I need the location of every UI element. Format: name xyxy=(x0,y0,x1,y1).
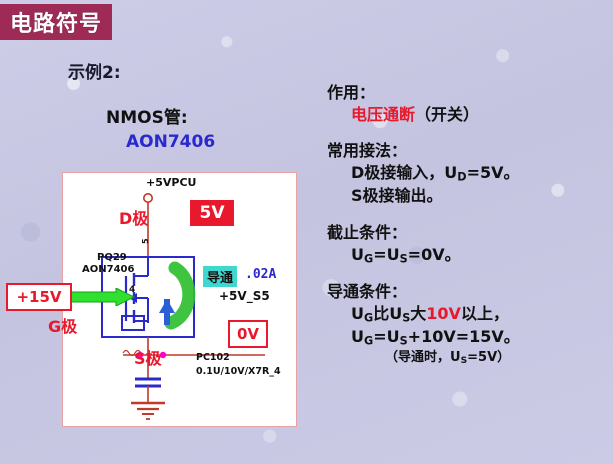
inline-text: 极接输出。 xyxy=(363,186,443,205)
inline-text: +10V=15V。 xyxy=(408,327,520,346)
device-label: AON7406 xyxy=(82,264,134,275)
inline-text: U xyxy=(450,350,461,365)
explanation-heading: 常用接法： xyxy=(327,140,609,162)
explanation-line: UG=US+10V=15V。 xyxy=(327,326,609,349)
inline-text: （开关） xyxy=(415,105,479,124)
inline-text: U xyxy=(387,245,400,264)
current-flow-arc xyxy=(171,268,189,323)
refdes-label: PQ29 xyxy=(97,252,127,263)
inline-text: （导通时， xyxy=(385,350,450,365)
inline-text: 以上， xyxy=(461,304,509,323)
explanation-line: UG比US大10V以上， xyxy=(327,303,609,326)
pin-number-gate: 4 xyxy=(129,285,135,295)
part-number-label: AON7406 xyxy=(126,132,215,152)
subscript-text: G xyxy=(364,334,373,347)
inline-text: U xyxy=(444,163,457,182)
inline-text: 电压通断 xyxy=(351,105,415,124)
explanation-heading: 截止条件： xyxy=(327,222,609,244)
explanation-line: UG=US=0V。 xyxy=(327,244,609,267)
inline-text: 大 xyxy=(410,304,426,323)
subscript-text: D xyxy=(457,170,466,183)
inline-text: U xyxy=(389,304,402,323)
gate-input-badge: +15V xyxy=(6,283,72,311)
cap-value-label: 0.1U/10V/X7R_4 xyxy=(196,366,281,377)
inline-text: 极接输入， xyxy=(364,163,444,182)
current-value-label: .02A xyxy=(245,267,276,282)
subscript-text: G xyxy=(364,311,373,324)
pin-number-top: 5 xyxy=(141,238,150,244)
example-label: 示例2: xyxy=(68,58,121,83)
input-arrow-icon xyxy=(68,288,136,306)
device-type-label: NMOS管: xyxy=(106,103,188,128)
explanation-line: D极接输入，UD=5V。 xyxy=(327,162,609,185)
title-text: 电路符号 xyxy=(10,6,102,38)
inline-text: 比 xyxy=(373,304,389,323)
explanation-block: 常用接法：D极接输入，UD=5V。S极接输出。 xyxy=(327,140,609,208)
inline-text: =5V。 xyxy=(467,163,520,182)
inline-text: U xyxy=(351,304,364,323)
explanation-line: 电压通断（开关） xyxy=(327,104,609,127)
explanation-line: S极接输出。 xyxy=(327,185,609,208)
source-pole-label: S极 xyxy=(134,345,162,369)
gate-pole-label: G极 xyxy=(48,313,77,337)
inline-text: U xyxy=(351,245,364,264)
drain-pole-label: D极 xyxy=(119,205,148,229)
inline-text: = xyxy=(373,245,386,264)
inline-text: 10V xyxy=(426,304,461,323)
subscript-text: S xyxy=(400,252,408,265)
inline-text: = xyxy=(373,327,386,346)
subscript-text: G xyxy=(364,252,373,265)
inline-text: U xyxy=(387,327,400,346)
explanation-heading: 作用： xyxy=(327,82,609,104)
subscript-text: S xyxy=(400,334,408,347)
inline-text: D xyxy=(351,163,364,182)
inline-text: =5V） xyxy=(467,350,510,365)
inline-text: S xyxy=(351,186,363,205)
explanation-column: 作用：电压通断（开关）常用接法：D极接输入，UD=5V。S极接输出。截止条件：U… xyxy=(327,82,609,382)
conduction-state-badge: 导通 xyxy=(203,266,237,287)
explanation-line: （导通时，US=5V） xyxy=(327,349,609,368)
inline-text: U xyxy=(351,327,364,346)
drain-voltage-badge: 5V xyxy=(190,200,234,226)
net-label-top: +5VPCU xyxy=(146,176,196,189)
source-voltage-badge: 0V xyxy=(228,320,268,348)
net-label-source: +5V_S5 xyxy=(219,289,270,303)
net-port-top-icon xyxy=(144,194,152,202)
explanation-block: 作用：电压通断（开关） xyxy=(327,82,609,126)
cap-refdes-label: PC102 xyxy=(196,352,230,363)
explanation-block: 导通条件：UG比US大10V以上，UG=US+10V=15V。（导通时，US=5… xyxy=(327,281,609,368)
inline-text: =0V。 xyxy=(408,245,461,264)
explanation-heading: 导通条件： xyxy=(327,281,609,303)
explanation-block: 截止条件：UG=US=0V。 xyxy=(327,222,609,267)
title-banner: 电路符号 xyxy=(0,4,112,40)
slide-background: 电路符号 示例2: NMOS管: AON7406 xyxy=(0,0,613,464)
